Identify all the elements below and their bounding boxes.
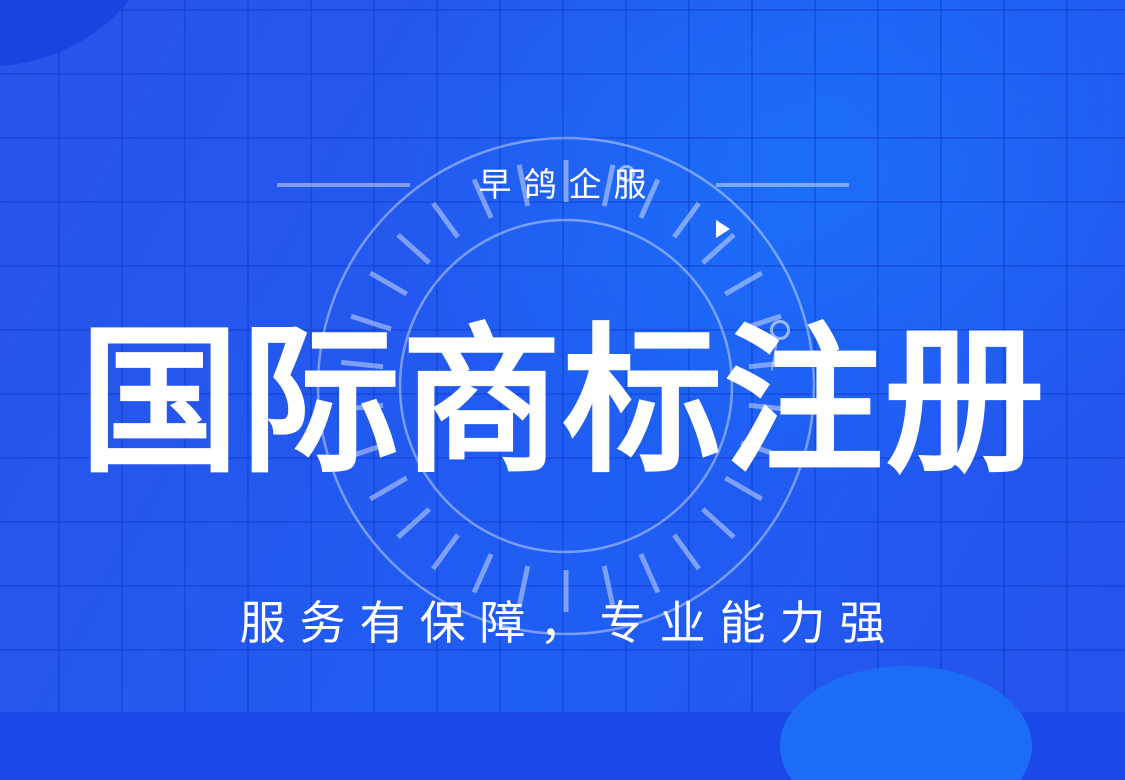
page-title: 国际商标注册 <box>0 322 1125 482</box>
bottom-band <box>0 712 1125 780</box>
rule-left <box>277 183 410 187</box>
bottom-band-ellipse <box>780 666 1032 780</box>
poster-canvas: 早鸽企服 国际商标注册 服务有保障，专业能力强 <box>0 0 1125 780</box>
brand-name: 早鸽企服 <box>467 168 659 201</box>
corner-blob-top-left-inner <box>0 0 170 66</box>
tagline: 服务有保障，专业能力强 <box>0 600 1125 646</box>
brand-row: 早鸽企服 <box>0 168 1125 201</box>
play-triangle-icon <box>716 220 730 238</box>
rule-right <box>716 183 849 187</box>
